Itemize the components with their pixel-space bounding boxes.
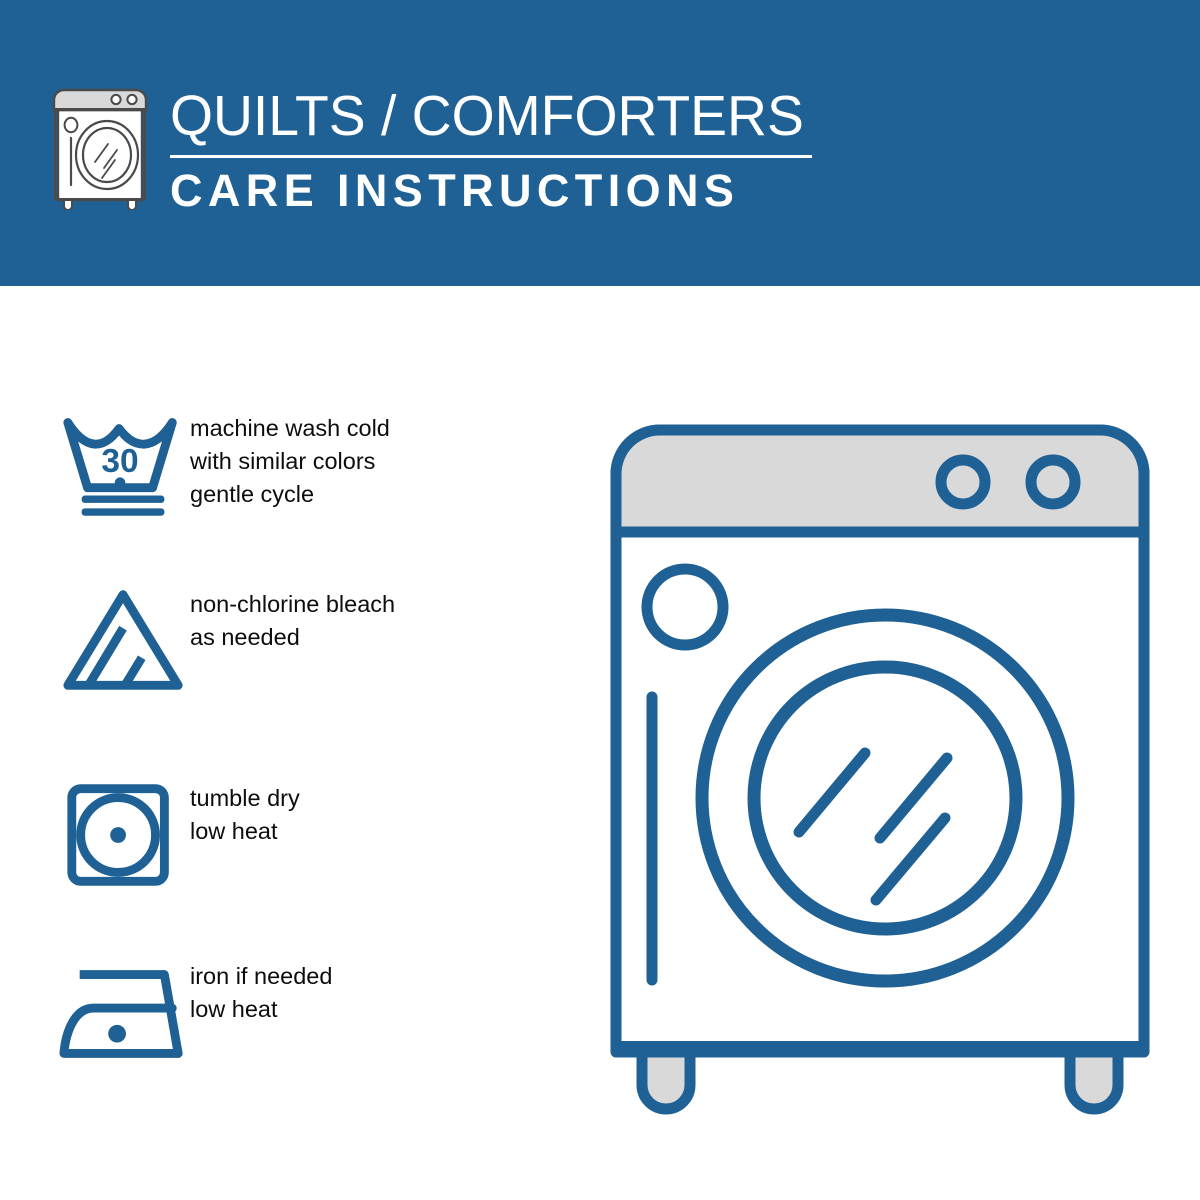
control-knob — [1031, 460, 1075, 504]
care-instructions-page: QUILTS / COMFORTERS CARE INSTRUCTIONS 30 — [0, 0, 1200, 1200]
machine-wash-30-gentle-icon: 30 — [58, 410, 190, 520]
care-item-iron: iron if needed low heat — [0, 958, 520, 1068]
care-item-label-line: as needed — [190, 621, 520, 654]
care-item-bleach: non-chlorine bleach as needed — [0, 586, 520, 696]
care-item-label-line: non-chlorine bleach — [190, 588, 520, 621]
indicator-light — [647, 569, 723, 645]
iron-low-heat-icon — [58, 958, 190, 1068]
care-item-label: machine wash cold with similar colors ge… — [190, 410, 520, 511]
care-icon-cell — [0, 586, 190, 696]
page-title-primary: QUILTS / COMFORTERS — [170, 86, 810, 146]
care-item-machine-wash: 30 machine wash cold with similar colors… — [0, 410, 520, 520]
control-knob — [941, 460, 985, 504]
care-item-label: tumble dry low heat — [190, 780, 520, 848]
care-icon-cell — [0, 958, 190, 1068]
header-banner: QUILTS / COMFORTERS CARE INSTRUCTIONS — [0, 0, 1200, 286]
washing-machine-illustration — [600, 400, 1160, 1120]
header-title-group: QUILTS / COMFORTERS CARE INSTRUCTIONS — [170, 86, 830, 217]
care-item-label-line: machine wash cold — [190, 412, 520, 445]
care-item-label-line: iron if needed — [190, 960, 520, 993]
title-divider — [170, 155, 812, 158]
care-item-label: iron if needed low heat — [190, 958, 520, 1026]
machine-base — [616, 1041, 1144, 1053]
care-item-label-line: low heat — [190, 993, 520, 1026]
care-icon-cell — [0, 780, 190, 890]
care-item-label: non-chlorine bleach as needed — [190, 586, 520, 654]
care-item-label-line: tumble dry — [190, 782, 520, 815]
machine-leg — [1070, 1050, 1118, 1109]
care-item-label-line: gentle cycle — [190, 478, 520, 511]
care-item-tumble-dry: tumble dry low heat — [0, 780, 520, 890]
tumble-dry-low-icon — [58, 780, 190, 890]
care-item-label-line: with similar colors — [190, 445, 520, 478]
care-item-label-line: low heat — [190, 815, 520, 848]
care-icon-cell: 30 — [0, 410, 190, 520]
page-title-secondary: CARE INSTRUCTIONS — [170, 165, 830, 217]
non-chlorine-bleach-icon — [58, 586, 190, 696]
washing-machine-icon — [52, 82, 156, 210]
svg-text:30: 30 — [101, 443, 138, 480]
care-symbol-list: 30 machine wash cold with similar colors… — [0, 286, 560, 1200]
machine-leg — [642, 1050, 690, 1109]
